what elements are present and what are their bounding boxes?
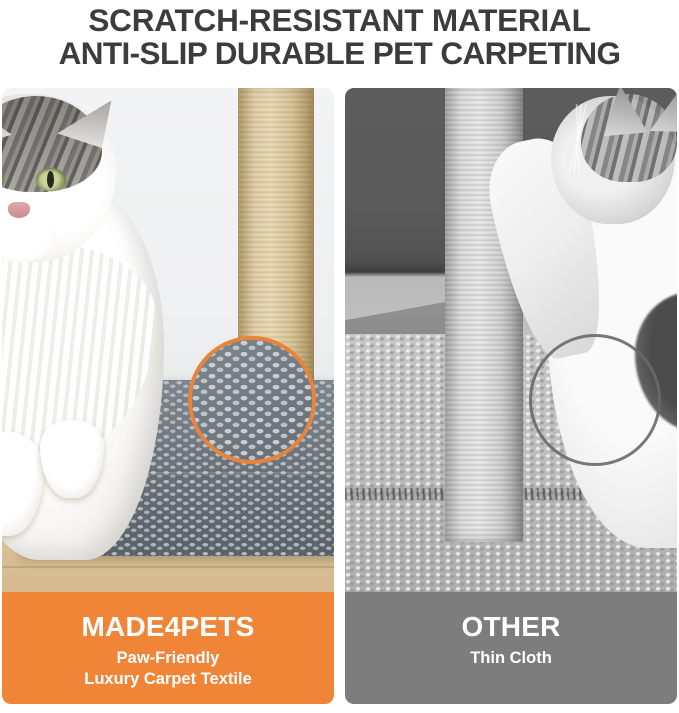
other-title: OTHER xyxy=(345,610,677,644)
other-subtitle: Thin Cloth xyxy=(345,648,677,669)
headline-line-1: SCRATCH-RESISTANT MATERIAL xyxy=(0,4,679,37)
other-photo xyxy=(345,88,677,592)
grayscale-scene xyxy=(345,88,677,592)
other-subtitle-line-1: Thin Cloth xyxy=(345,648,677,669)
page-headline: SCRATCH-RESISTANT MATERIAL ANTI-SLIP DUR… xyxy=(0,0,679,86)
thin-cloth-magnifier xyxy=(529,334,661,466)
carpet-texture-magnifier xyxy=(188,336,316,464)
cat-whiskers xyxy=(519,104,639,174)
cat-muzzle xyxy=(2,212,56,262)
headline-line-2: ANTI-SLIP DURABLE PET CARPETING xyxy=(0,37,679,70)
other-panel: OTHER Thin Cloth xyxy=(345,88,677,704)
made4pets-photo xyxy=(2,88,334,592)
other-caption: OTHER Thin Cloth xyxy=(345,592,677,704)
cat-illustration xyxy=(2,88,196,554)
made4pets-caption: MADE4PETS Paw-Friendly Luxury Carpet Tex… xyxy=(2,592,334,704)
made4pets-subtitle: Paw-Friendly Luxury Carpet Textile xyxy=(2,648,334,690)
made4pets-subtitle-line-1: Paw-Friendly xyxy=(2,648,334,669)
cat-nose xyxy=(8,202,30,218)
made4pets-title: MADE4PETS xyxy=(2,610,334,644)
comparison-panels: MADE4PETS Paw-Friendly Luxury Carpet Tex… xyxy=(0,88,679,708)
cat-illustration-gray xyxy=(495,88,677,548)
made4pets-subtitle-line-2: Luxury Carpet Textile xyxy=(2,669,334,690)
cat-eye-right xyxy=(36,168,66,191)
made4pets-panel: MADE4PETS Paw-Friendly Luxury Carpet Tex… xyxy=(2,88,334,704)
